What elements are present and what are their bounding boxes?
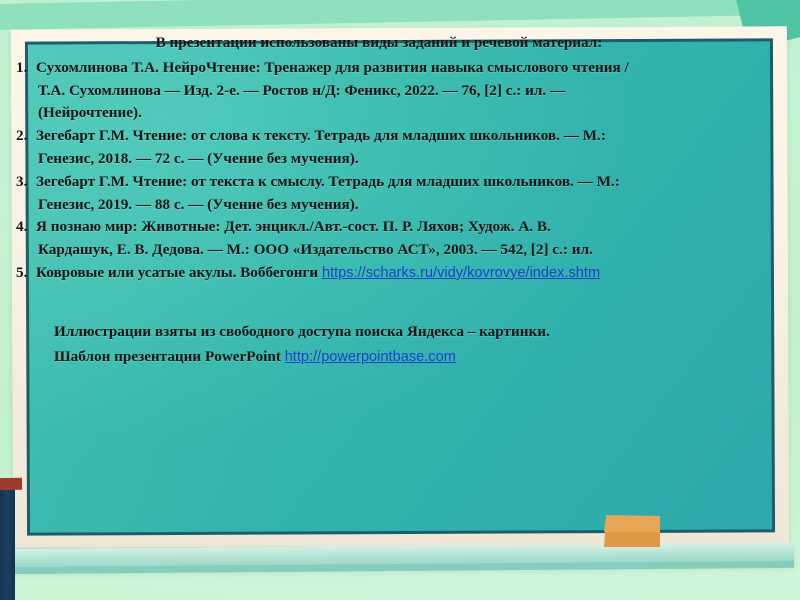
board-eraser-top [604, 515, 660, 532]
list-item-continuation: (Нейрочтение). [16, 102, 742, 125]
list-item-text: Зегебарт Г.М. Чтение: от слова к тексту.… [36, 125, 742, 148]
list-item-number: 2. [16, 125, 36, 148]
list-item-text: Ковровые или усатые акулы. Воббегонги [36, 264, 322, 281]
list-item-text: Сухомлинова Т.А. НейроЧтение: Тренажер д… [36, 57, 742, 80]
sharks-reference-link[interactable]: https://scharks.ru/vidy/kovrovye/index.s… [322, 265, 600, 281]
slide-title: В презентации использованы виды заданий … [16, 32, 742, 55]
list-item-text: Зегебарт Г.М. Чтение: от текста к смыслу… [36, 171, 742, 194]
slide-text-content: В презентации использованы виды заданий … [16, 32, 742, 370]
list-item-continuation: Генезис, 2019. — 88 с. — (Учение без муч… [16, 194, 742, 217]
powerpoint-template-link[interactable]: http://powerpointbase.com [285, 349, 456, 365]
list-item-number: 1. [16, 57, 36, 80]
list-item-number: 5. [16, 262, 36, 285]
list-item: 3. Зегебарт Г.М. Чтение: от текста к смы… [16, 171, 742, 194]
list-item-continuation: Генезис, 2018. — 72 с. — (Учение без муч… [16, 148, 742, 171]
list-item-number: 4. [16, 216, 36, 239]
presentation-slide: В презентации использованы виды заданий … [0, 0, 800, 600]
footer-illustrations-note: Иллюстрации взяты из свободного доступа … [54, 321, 742, 344]
list-item-text: Я познаю мир: Животные: Дет. энцикл./Авт… [36, 216, 742, 239]
list-item: 2. Зегебарт Г.М. Чтение: от слова к текс… [16, 125, 742, 148]
footer-template-prefix: Шаблон презентации PowerPoint [54, 348, 285, 365]
cabinet-top-panel [0, 478, 22, 490]
list-item-text-with-link: Ковровые или усатые акулы. Воббегонги ht… [36, 262, 742, 285]
list-item: 1. Сухомлинова Т.А. НейроЧтение: Тренаже… [16, 57, 742, 80]
list-item-number: 3. [16, 171, 36, 194]
slide-footer: Иллюстрации взяты из свободного доступа … [16, 321, 742, 369]
list-item-continuation: Кардашук, Е. В. Дедова. — М.: ООО «Издат… [16, 239, 742, 262]
list-item: 5. Ковровые или усатые акулы. Воббегонги… [16, 262, 742, 285]
list-item: 4. Я познаю мир: Животные: Дет. энцикл./… [16, 216, 742, 239]
list-item-continuation: Т.А. Сухомлинова — Изд. 2-е. — Ростов н/… [16, 80, 742, 103]
footer-template-note: Шаблон презентации PowerPoint http://pow… [54, 346, 742, 369]
cabinet [0, 487, 15, 600]
